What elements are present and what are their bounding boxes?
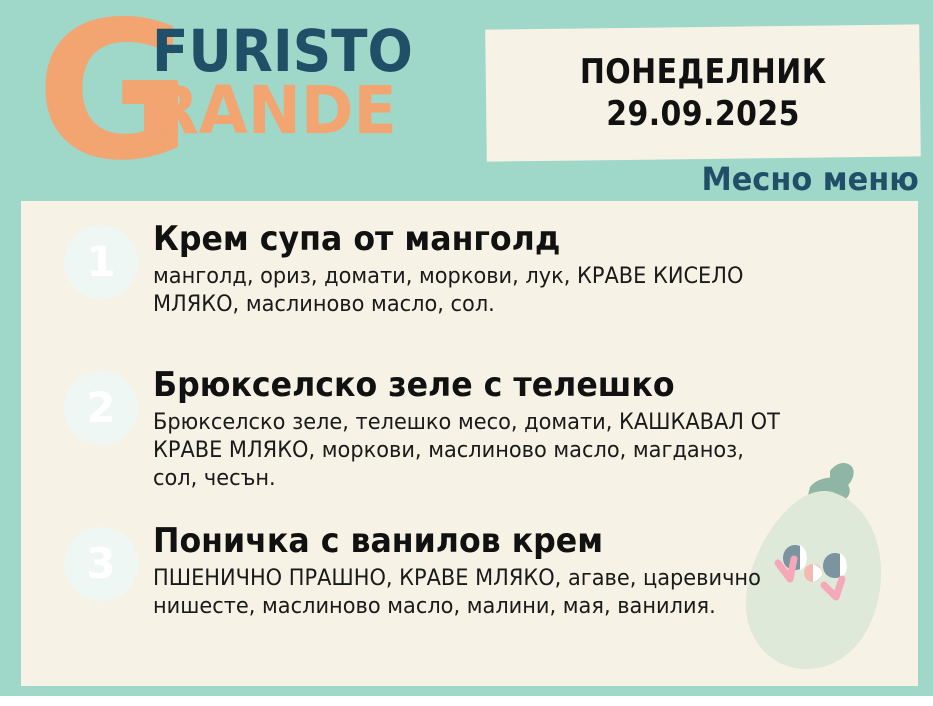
dish-item: 2 Брюкселско зеле с телешко Брюкселско з…: [21, 365, 918, 493]
dish-list: 1 Крем супа от манголд манголд, ориз, до…: [21, 201, 918, 625]
dish-number: 1: [86, 241, 115, 283]
dish-number-badge: 3: [64, 527, 138, 601]
weekday-label: ПОНЕДЕЛНИК: [580, 51, 827, 93]
bottom-strip: [0, 696, 933, 706]
dish-number-badge: 1: [64, 225, 138, 299]
dish-number: 2: [86, 387, 115, 429]
brand-logo: G FURISTO RANDE: [36, 8, 456, 168]
date-card-content: ПОНЕДЕЛНИК 29.09.2025: [486, 27, 920, 159]
dish-number-badge: 2: [64, 371, 138, 445]
brand-name-grande: RANDE: [150, 78, 397, 144]
menu-poster: G FURISTO RANDE ПОНЕДЕЛНИК 29.09.2025 Ме…: [0, 0, 933, 706]
dish-title: Крем супа от манголд: [153, 219, 840, 259]
dish-description: манголд, ориз, домати, моркови, лук, КРА…: [153, 263, 791, 319]
menu-panel: 1 Крем супа от манголд манголд, ориз, до…: [21, 201, 918, 686]
dish-title: Брюкселско зеле с телешко: [153, 365, 840, 405]
dish-number: 3: [86, 543, 115, 585]
date-label: 29.09.2025: [606, 93, 800, 135]
dish-item: 3 Поничка с ванилов крем ПШЕНИЧНО ПРАШНО…: [21, 521, 918, 625]
dish-item: 1 Крем супа от манголд манголд, ориз, до…: [21, 219, 918, 323]
dish-title: Поничка с ванилов крем: [153, 521, 840, 561]
dish-description: ПШЕНИЧНО ПРАШНО, КРАВЕ МЛЯКО, агаве, цар…: [153, 565, 791, 621]
menu-type-label: Месно меню: [702, 160, 919, 198]
dish-description: Брюкселско зеле, телешко месо, домати, К…: [153, 409, 791, 493]
date-card: ПОНЕДЕЛНИК 29.09.2025: [485, 24, 921, 161]
